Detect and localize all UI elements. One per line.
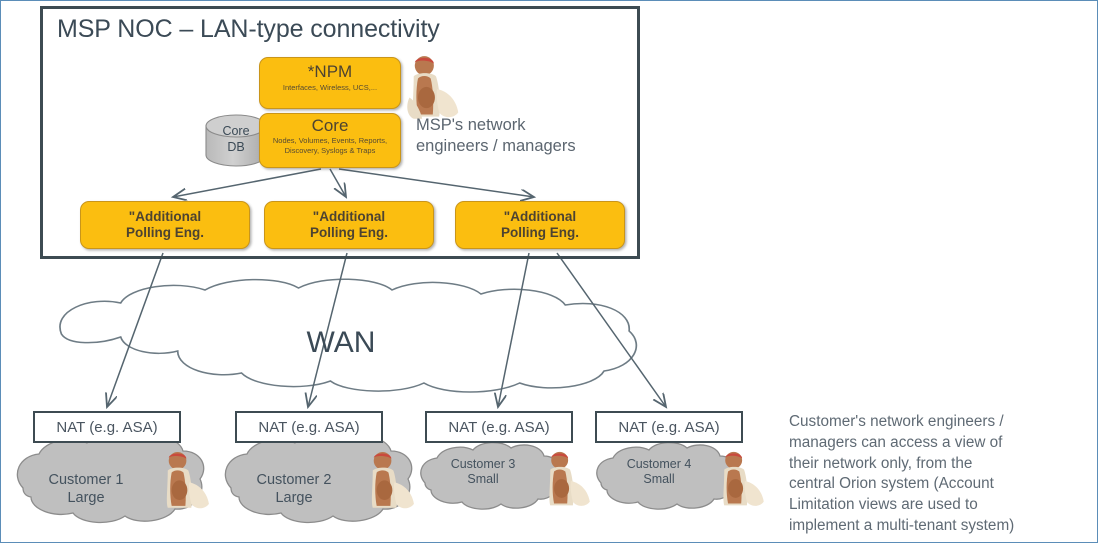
customer-3-label: Customer 3 Small <box>425 457 541 488</box>
person-icon-customer-2 <box>372 452 414 508</box>
page-title: MSP NOC – LAN-type connectivity <box>57 15 440 44</box>
person-icon-customer-1 <box>167 452 209 508</box>
nat-device-1[interactable]: NAT (e.g. ASA) <box>33 411 181 443</box>
customer-cloud-2 <box>225 433 411 522</box>
customer-access-note: Customer's network engineers / managers … <box>789 412 1089 537</box>
customer-3-size: Small <box>425 472 541 487</box>
polling-engine-2-label: "Additional Polling Eng. <box>310 209 388 241</box>
core-subtitle-line-2: Discovery, Syslogs & Traps <box>260 147 400 155</box>
polling-engine-3-line-2: Polling Eng. <box>501 225 579 240</box>
customer-4-name: Customer 4 <box>601 457 717 472</box>
polling-engine-1-label: "Additional Polling Eng. <box>126 209 204 241</box>
customer-1-name: Customer 1 <box>21 472 151 490</box>
nat-device-3[interactable]: NAT (e.g. ASA) <box>425 411 573 443</box>
customer-cloud-3 <box>421 443 559 510</box>
polling-engine-1-line-2: Polling Eng. <box>126 225 204 240</box>
customer-4-label: Customer 4 Small <box>601 457 717 488</box>
core-node[interactable]: Core Nodes, Volumes, Events, Reports, Di… <box>259 113 401 168</box>
wan-label: WAN <box>1 326 681 360</box>
customer-3-name: Customer 3 <box>425 457 541 472</box>
polling-engine-1-line-1: "Additional <box>129 209 201 224</box>
npm-subtitle: Interfaces, Wireless, UCS,... <box>260 84 400 92</box>
customer-4-size: Small <box>601 472 717 487</box>
customer-2-label: Customer 2 Large <box>229 472 359 507</box>
customer-2-name: Customer 2 <box>229 472 359 490</box>
msp-engineers-caption: MSP's network engineers / managers <box>416 115 631 157</box>
customer-1-label: Customer 1 Large <box>21 472 151 507</box>
core-subtitle-line-1: Nodes, Volumes, Events, Reports, <box>260 137 400 145</box>
additional-polling-engine-3[interactable]: "Additional Polling Eng. <box>455 201 625 249</box>
note-line-3: their network only, from the <box>789 454 1089 475</box>
additional-polling-engine-2[interactable]: "Additional Polling Eng. <box>264 201 434 249</box>
note-line-1: Customer's network engineers / <box>789 412 1089 433</box>
npm-title: *NPM <box>260 63 400 81</box>
polling-engine-2-line-1: "Additional <box>313 209 385 224</box>
nat-device-2[interactable]: NAT (e.g. ASA) <box>235 411 383 443</box>
polling-engine-3-line-1: "Additional <box>504 209 576 224</box>
polling-engine-3-label: "Additional Polling Eng. <box>501 209 579 241</box>
customer-cloud-4 <box>597 443 735 510</box>
note-line-2: managers can access a view of <box>789 433 1089 454</box>
diagram-canvas: MSP NOC – LAN-type connectivity *NPM Int… <box>0 0 1098 543</box>
customer-cloud-1 <box>17 433 203 522</box>
note-line-5: Limitation views are used to <box>789 495 1089 516</box>
additional-polling-engine-1[interactable]: "Additional Polling Eng. <box>80 201 250 249</box>
msp-caption-line-2: engineers / managers <box>416 136 631 157</box>
npm-node[interactable]: *NPM Interfaces, Wireless, UCS,... <box>259 57 401 109</box>
customer-1-size: Large <box>21 490 151 508</box>
nat-device-4[interactable]: NAT (e.g. ASA) <box>595 411 743 443</box>
msp-caption-line-1: MSP's network <box>416 115 631 136</box>
core-title: Core <box>260 117 400 135</box>
person-icon-customer-4 <box>723 452 763 506</box>
customer-2-size: Large <box>229 490 359 508</box>
note-line-6: implement a multi-tenant system) <box>789 516 1089 537</box>
polling-engine-2-line-2: Polling Eng. <box>310 225 388 240</box>
person-icon-customer-3 <box>549 452 589 506</box>
note-line-4: central Orion system (Account <box>789 474 1089 495</box>
